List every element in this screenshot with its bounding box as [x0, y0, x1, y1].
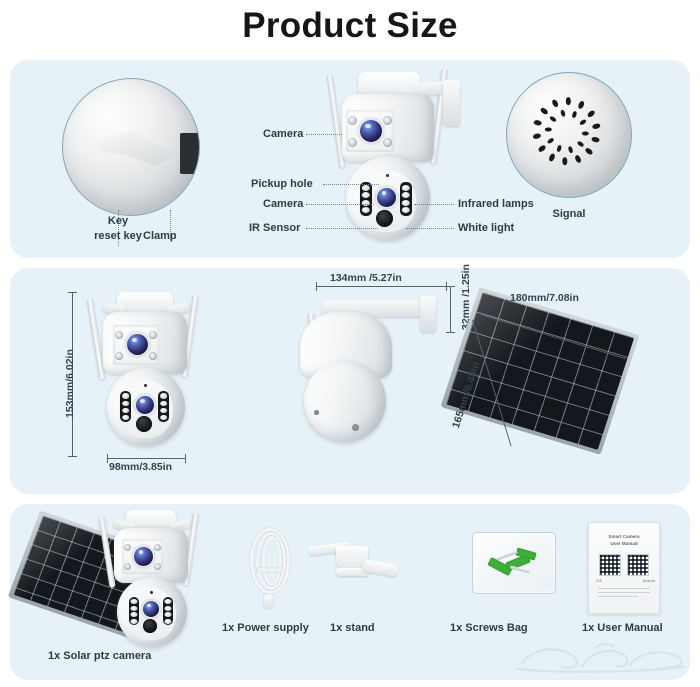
signal-detail-circle — [506, 72, 632, 198]
upper-ir-led-4 — [154, 563, 161, 570]
dim-camera-width: 98mm/3.85in — [109, 461, 172, 473]
upper-ir-led-1 — [348, 116, 357, 125]
package-screws-bag — [472, 532, 556, 594]
ir-sensor-dot — [136, 416, 152, 432]
dome-camera-lens — [377, 188, 396, 207]
dome-vent-right — [352, 424, 359, 431]
package-power-supply — [244, 524, 304, 616]
pickup-hole-dot — [144, 384, 147, 387]
page-title: Product Size — [0, 6, 700, 46]
speaker-grille-icon — [507, 73, 631, 197]
manual-text-line-2 — [598, 592, 650, 593]
label-camera-bottom: Camera — [263, 198, 303, 210]
dimensions-panel: 153mm/6.02in 98mm/3.85in 134mm /5.27in 3… — [10, 268, 690, 494]
wall-plate — [443, 80, 460, 126]
dimline-bracket-height — [450, 286, 451, 332]
ir-sensor-dot — [143, 619, 157, 633]
dome-camera-lens — [143, 601, 159, 617]
upper-ir-led-2 — [149, 331, 157, 339]
label-screws-bag: 1x Screws Bag — [450, 622, 528, 634]
dimtick-width-left — [107, 454, 108, 463]
label-key-reset-key-line1: Key — [72, 215, 164, 227]
label-camera-top: Camera — [263, 128, 303, 140]
qr-code-android — [627, 554, 649, 576]
ir-lamp-strip-right — [163, 597, 173, 625]
manual-title-line1: Smart Camera — [588, 534, 660, 541]
dimtick-width-right — [185, 454, 186, 463]
upper-ir-led-3 — [124, 563, 131, 570]
label-white-light: White light — [458, 222, 514, 234]
dim-bracket-width: 134mm /5.27in — [330, 272, 402, 284]
upper-ir-led-3 — [115, 352, 123, 360]
upper-ir-led-2 — [154, 544, 161, 551]
camera-illustration-front — [75, 280, 235, 455]
manual-text-line-3 — [598, 596, 638, 597]
label-clamp: Clamp — [143, 230, 177, 242]
cable-plug — [264, 594, 273, 609]
package-contents-panel: 1x Solar ptz camera 1x Power supply 1x s… — [10, 504, 690, 680]
ir-lamp-strip-right — [158, 391, 169, 422]
camera-dome-rear — [304, 360, 386, 442]
leader-ir-sensor — [306, 228, 378, 229]
dome-vent-left — [314, 410, 319, 415]
manual-text-line-1 — [598, 588, 650, 589]
dimline-bracket-width — [316, 286, 446, 287]
dimtick-bracketh-bottom — [446, 332, 455, 333]
label-power-supply: 1x Power supply — [222, 622, 309, 634]
cable-tie — [257, 568, 283, 572]
dimtick-bracketh-top — [446, 286, 455, 287]
upper-camera-lens — [360, 120, 382, 142]
dim-camera-height: 153mm/6.02in — [64, 349, 76, 418]
upper-ir-led-3 — [348, 138, 357, 147]
package-user-manual: Smart Camera User Manual iOS Android — [588, 522, 660, 614]
label-infrared-lamps: Infrared lamps — [458, 198, 534, 210]
leader-infrared-lamps — [414, 204, 454, 205]
package-stand — [306, 532, 396, 592]
dome-camera-lens — [136, 396, 154, 414]
pickup-hole-dot — [150, 591, 153, 594]
upper-camera-lens — [134, 547, 153, 566]
clamp-detail-circle — [62, 78, 200, 216]
leader-pickup-hole — [323, 184, 379, 185]
manual-title-block: Smart Camera User Manual — [588, 534, 660, 548]
qr-code-ios — [599, 554, 621, 576]
label-user-manual: 1x User Manual — [582, 622, 663, 634]
label-stand: 1x stand — [330, 622, 375, 634]
manual-qr-caption-right: Android — [613, 579, 685, 583]
label-ir-sensor: IR Sensor — [249, 222, 300, 234]
label-pickup-hole: Pickup hole — [251, 178, 313, 190]
camera-top-cap — [117, 292, 173, 314]
manual-title-line2: User Manual — [588, 541, 660, 548]
clamp-dark-edge — [180, 133, 199, 174]
ir-lamp-strip-left — [360, 182, 372, 216]
leader-camera-bottom — [306, 204, 374, 205]
upper-ir-led-4 — [383, 138, 392, 147]
dimline-camera-width — [107, 458, 185, 459]
cable-loop-3 — [262, 536, 282, 586]
ir-lamp-strip-left — [129, 597, 139, 625]
upper-ir-led-2 — [383, 116, 392, 125]
clamp-shape — [93, 131, 177, 172]
dim-solar-width: 180mm/7.08in — [510, 292, 579, 304]
ir-sensor-dot — [376, 210, 393, 227]
ir-lamp-strip-right — [400, 182, 412, 216]
package-camera-illustration — [88, 500, 228, 650]
detail-callout-panel: Key reset key Clamp Signal — [10, 60, 690, 258]
dimtick-bracket-left — [316, 282, 317, 291]
dimtick-height-top — [68, 292, 77, 293]
leader-camera-top — [306, 134, 342, 135]
upper-ir-led-4 — [149, 352, 157, 360]
product-size-infographic: Product Size Key reset key Clamp Signal — [0, 0, 700, 687]
upper-camera-lens — [127, 334, 148, 355]
ir-lamp-strip-left — [120, 391, 131, 422]
wall-plate — [420, 296, 436, 332]
pickup-hole-dot — [386, 174, 389, 177]
camera-illustration-side — [278, 278, 458, 458]
upper-ir-led-1 — [115, 331, 123, 339]
leader-white-light — [406, 228, 454, 229]
upper-ir-led-1 — [124, 544, 131, 551]
label-solar-ptz-camera: 1x Solar ptz camera — [48, 650, 151, 662]
dimtick-height-bottom — [68, 456, 77, 457]
